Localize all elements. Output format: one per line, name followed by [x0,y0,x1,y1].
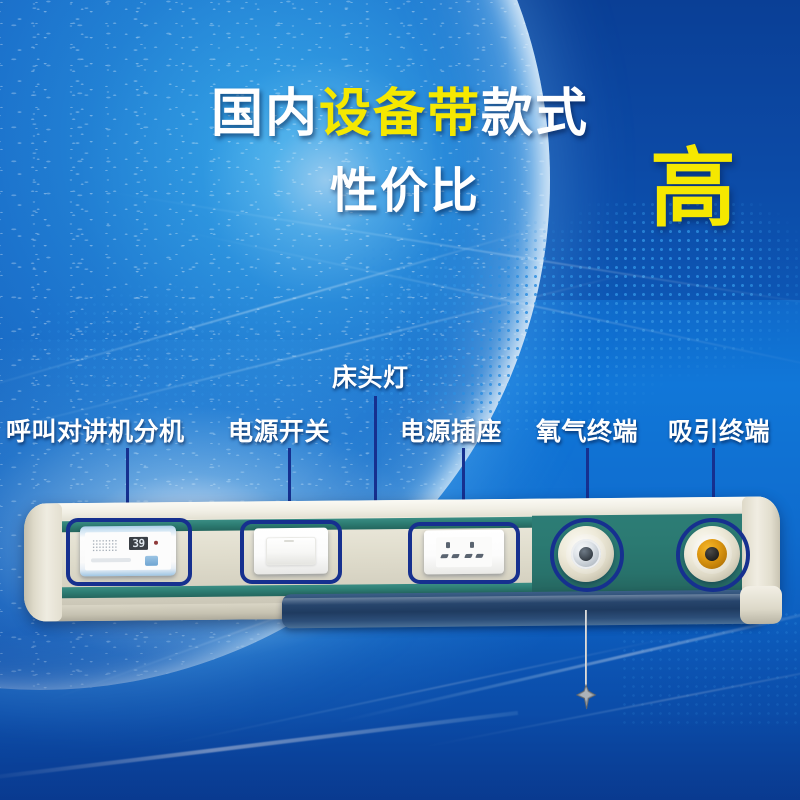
headline-emphasis: 高 [650,146,736,232]
callout-label-bed-lamp: 床头灯 [332,358,409,394]
highlight-box-intercom [66,518,192,586]
headline-line-2: 性价比 [330,168,480,216]
highlight-box-power-socket [408,522,520,584]
callout-label-suction-terminal: 吸引终端 [668,412,770,448]
poster-canvas: 国内设备带款式 性价比 高 呼叫对讲机分机 电源开关 床头灯 电源插座 氧气终端… [0,0,800,800]
panel-end-cap-left [24,503,62,621]
highlight-circle-suction [676,518,750,592]
panel-grab-rail [282,590,762,629]
pull-cord[interactable] [585,610,587,688]
halftone-dots-left [0,255,420,425]
panel-grab-rail-cap [740,586,782,624]
highlight-box-power-switch [240,520,342,584]
headline-part-1: 国内 [211,85,319,143]
headline-block: 国内设备带款式 性价比 高 [0,0,800,250]
background-bottom-fade [0,610,800,800]
headline-part-3: 款式 [481,85,589,143]
callout-label-intercom: 呼叫对讲机分机 [6,412,185,448]
highlight-circle-oxygen [550,518,624,592]
callout-label-power-switch: 电源开关 [228,412,330,448]
callout-label-power-socket: 电源插座 [400,412,502,448]
callout-label-oxygen-terminal: 氧气终端 [536,412,638,448]
headline-part-2-highlight: 设备带 [319,85,481,143]
headline-line-1: 国内设备带款式 [0,88,800,140]
pull-cord-handle-icon[interactable] [575,684,597,710]
